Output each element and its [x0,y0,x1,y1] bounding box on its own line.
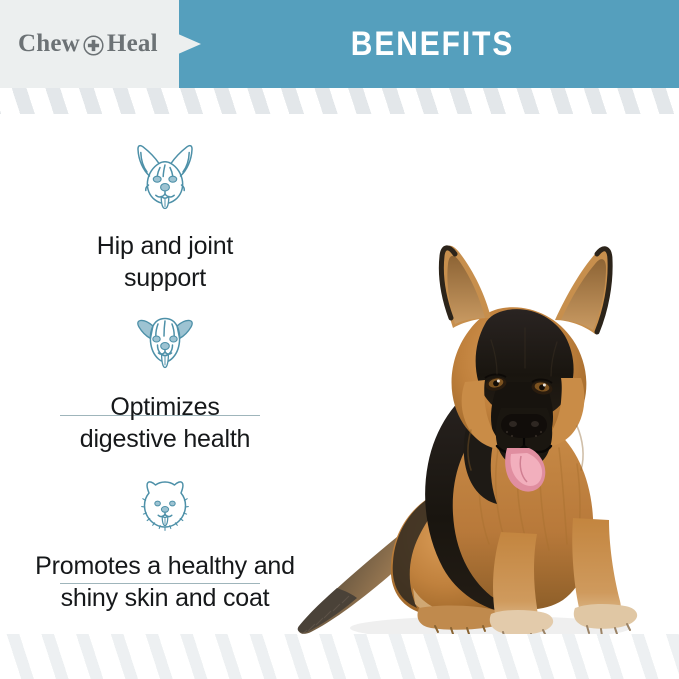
brand-logo-text-left: Chew [18,30,80,58]
benefit-label: Promotes a healthy and shiny skin and co… [0,550,330,614]
benefit-label: Hip and joint support [0,230,330,294]
benefit-label-line2: shiny skin and coat [2,582,328,614]
benefit-label-line1: Promotes a healthy and [2,550,328,582]
benefit-item-hip-and-joint: Hip and joint support [0,136,330,294]
terrier-dog-head-icon [0,309,330,380]
brand-logo[interactable]: Chew Heal [18,27,158,61]
page-header: Chew Heal BENEFITS [0,0,679,88]
circled-plus-icon [83,35,104,56]
benefit-label-line2: digestive health [22,423,308,455]
benefit-label-line1: Optimizes [22,391,308,423]
stripe-pattern [0,634,679,679]
decorative-stripe-band-bottom [0,634,679,679]
benefit-item-skin-and-coat: Promotes a healthy and shiny skin and co… [0,476,330,614]
samoyed-dog-head-icon [0,476,330,539]
benefits-list: Hip and joint support [0,114,330,634]
decorative-stripe-band-top [0,88,679,114]
stripe-pattern [0,88,679,114]
german-shepherd-photo [285,232,679,652]
main-content: Hip and joint support [0,114,679,634]
benefit-label-line2: support [22,262,308,294]
corgi-dog-head-icon [0,136,330,219]
brand-logo-text-right: Heal [107,30,158,58]
page-title: BENEFITS [209,0,649,88]
benefit-item-digestive-health: Optimizes digestive health [0,309,330,455]
benefit-label-line1: Hip and joint [22,230,308,262]
benefit-label: Optimizes digestive health [0,391,330,455]
